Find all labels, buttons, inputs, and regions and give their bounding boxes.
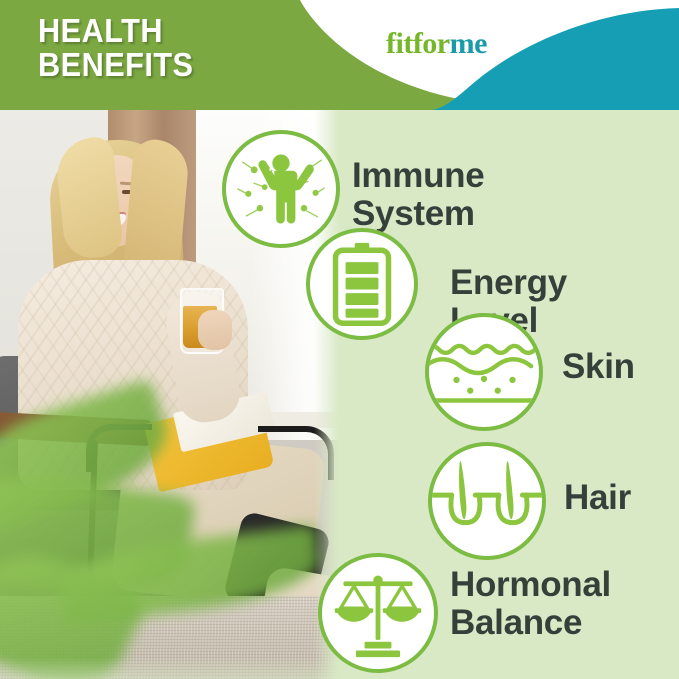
hair-follicle-icon <box>428 442 546 560</box>
battery-icon <box>306 228 418 340</box>
benefit-label-hair: Hair <box>564 479 631 517</box>
immune-person-icon <box>222 130 340 248</box>
balance-scales-icon <box>318 553 438 673</box>
benefit-label-skin: Skin <box>562 348 635 386</box>
brand-logo: fitforme <box>386 27 487 61</box>
benefit-label-hormonal-balance: Hormonal Balance <box>450 566 611 642</box>
product-infographic-canvas: Immune System Energy Level <box>0 0 679 679</box>
photo-bottom-fade <box>0 657 340 679</box>
page-title: HEALTH BENEFITS <box>38 14 193 82</box>
skin-layers-icon <box>425 313 543 431</box>
benefit-label-immune-system: Immune System <box>352 157 484 233</box>
hand <box>198 310 232 350</box>
header-banner: HEALTH BENEFITS fitforme <box>0 0 679 110</box>
brand-logo-green: fitfor <box>386 27 450 60</box>
brand-logo-teal: me <box>450 27 487 60</box>
